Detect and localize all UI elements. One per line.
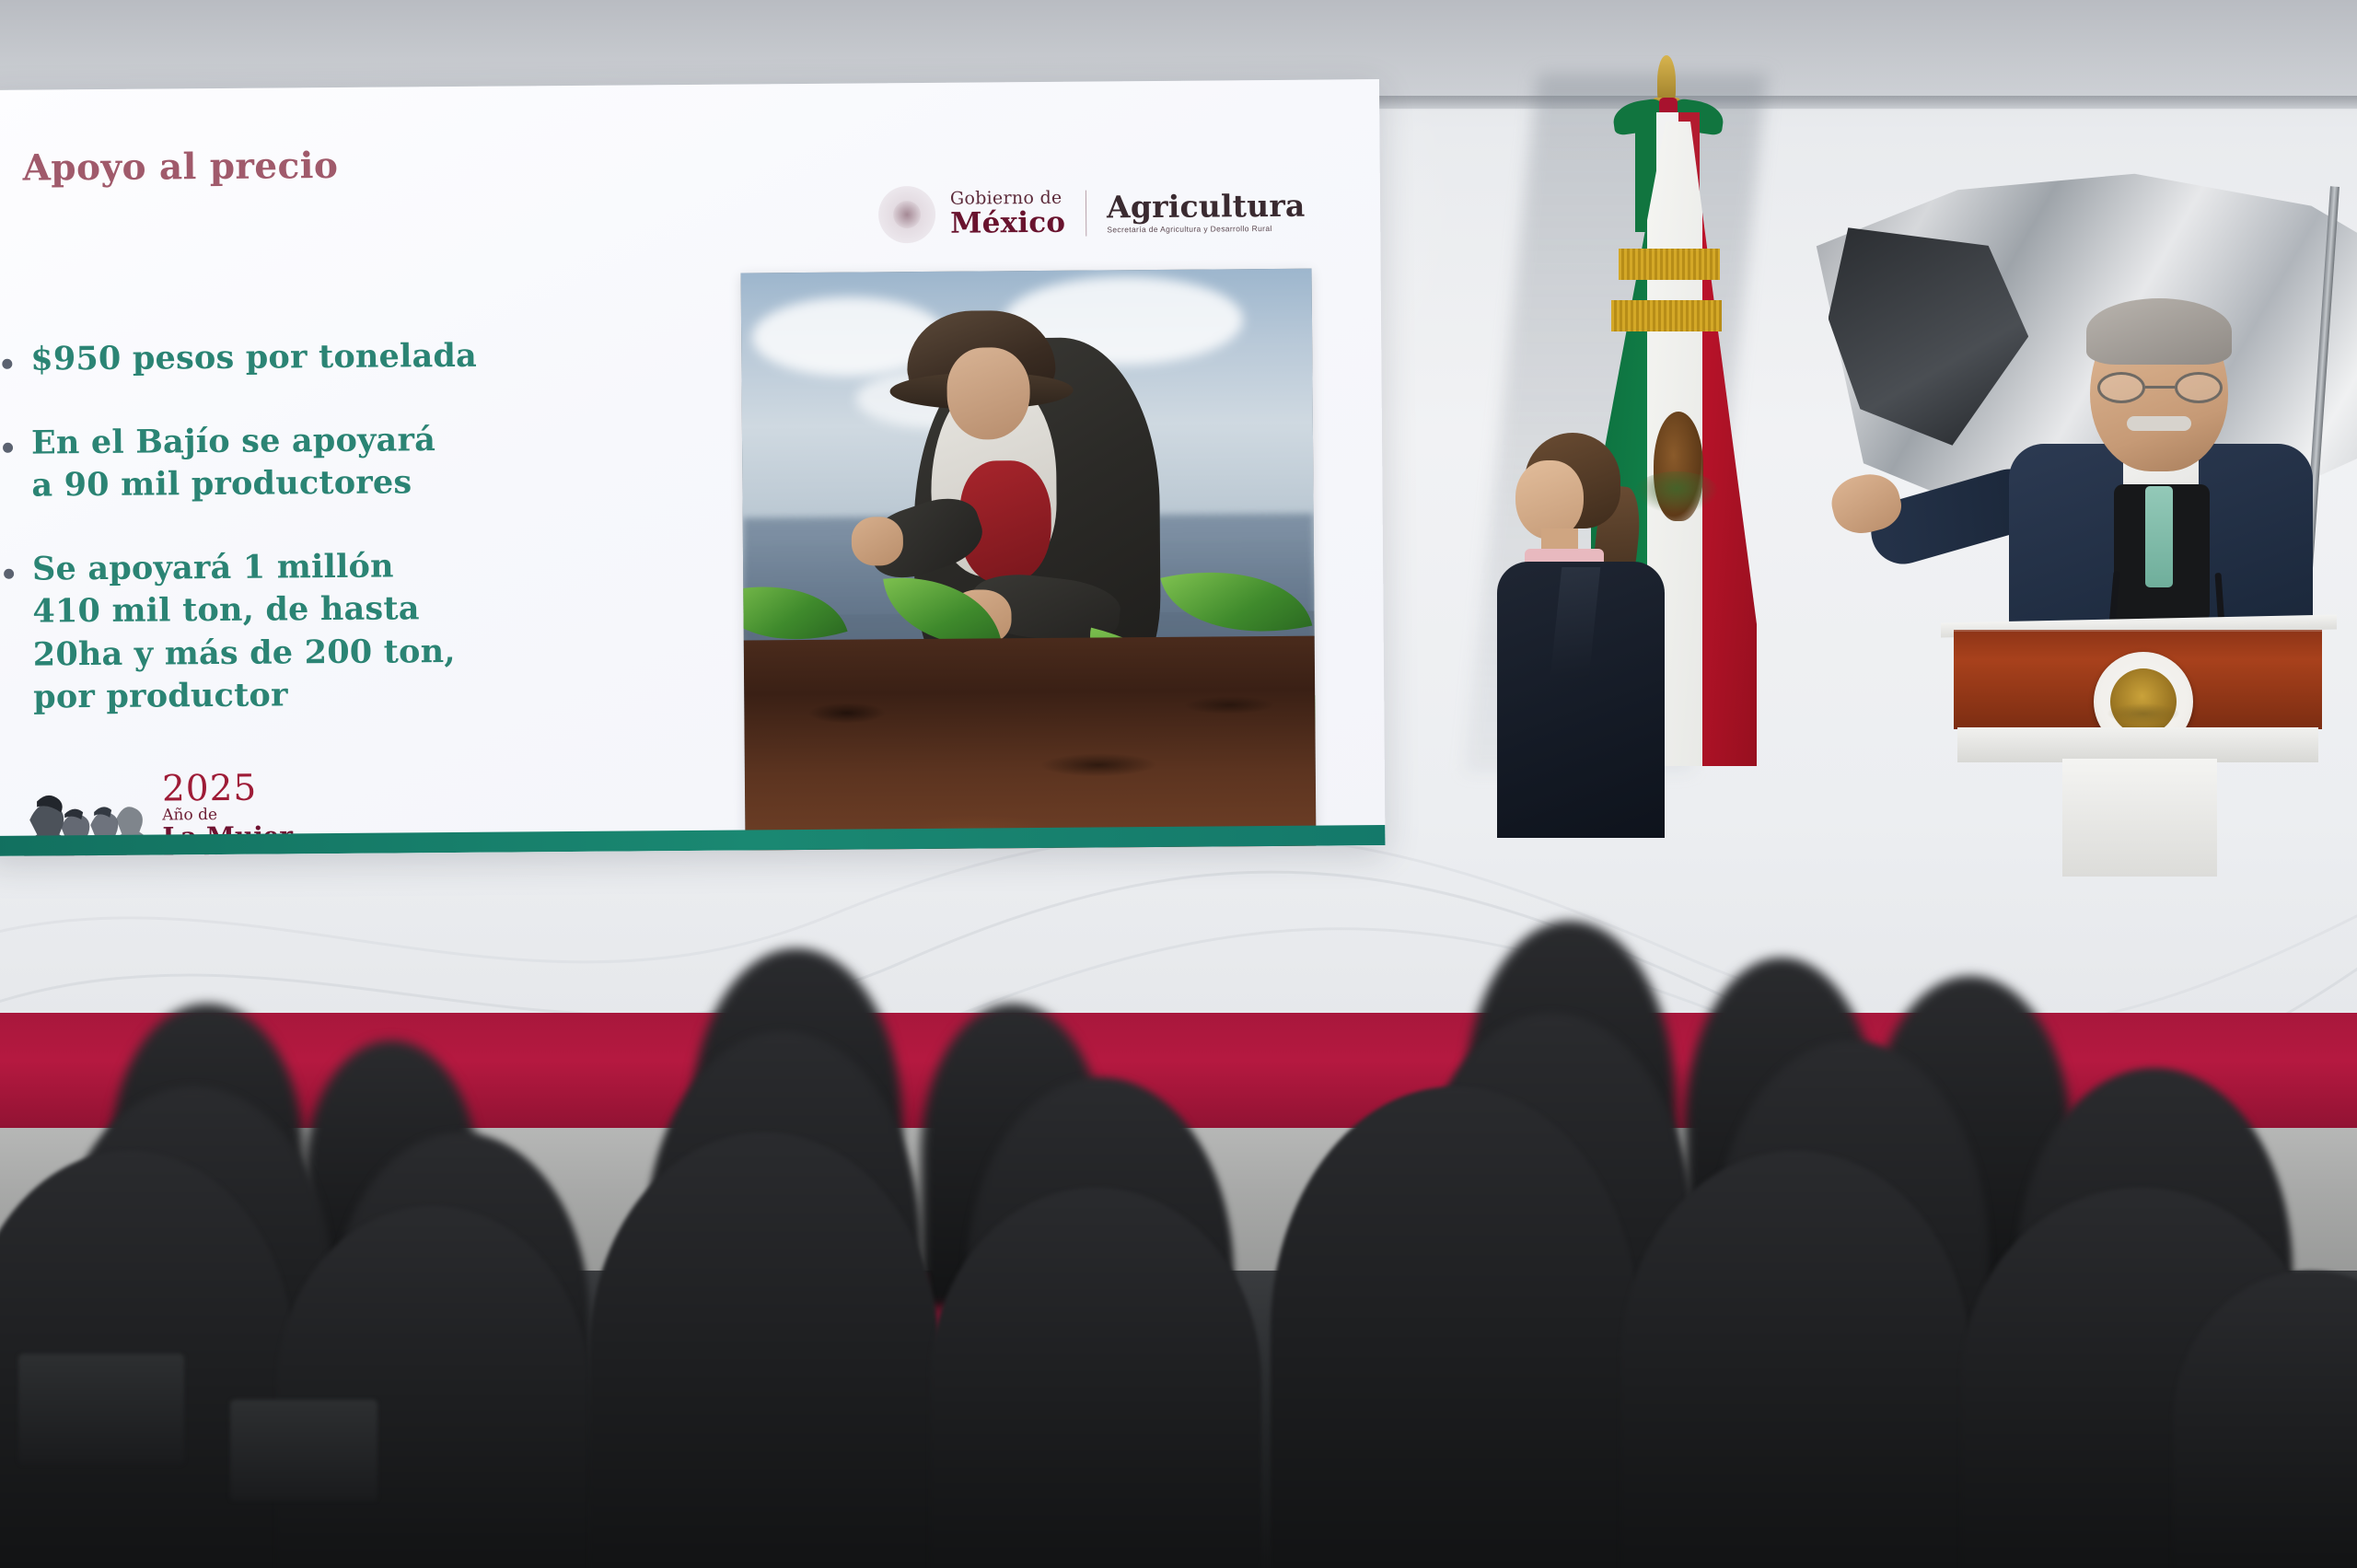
list-item [276, 1206, 589, 1568]
slide-photo-farmer [741, 269, 1317, 856]
flag-gold-fringe [1611, 300, 1722, 331]
list-item [1620, 1151, 1970, 1568]
podium [1941, 619, 2337, 877]
presentation-slide: Apoyo al precio Gobierno de México Agric… [0, 79, 1385, 856]
photo-farmer-hand [851, 517, 902, 566]
necktie [2145, 486, 2173, 587]
bullet-dot-icon [4, 568, 14, 578]
slide-title: Apoyo al precio [22, 145, 338, 190]
list-item [589, 1132, 939, 1568]
year-badge-year: 2025 [162, 771, 293, 806]
coat-of-arms-icon [878, 186, 935, 243]
list-item: Se apoyará 1 millón 410 mil ton, de hast… [4, 542, 704, 719]
hair [2086, 298, 2232, 365]
eyeglasses-icon [2097, 372, 2223, 403]
list-item: En el Bajío se apoyará a 90 mil producto… [3, 416, 703, 507]
photo-farmer-face [946, 347, 1030, 439]
podium-column [2062, 759, 2217, 877]
podium-base-shelf [1957, 727, 2318, 762]
gobierno-agricultura-logo: Gobierno de México Agricultura Secretarí… [878, 183, 1306, 244]
bullet-dot-icon [2, 359, 12, 369]
standing-official [1484, 433, 1678, 838]
bullet-text: $950 pesos por tonelada [30, 335, 477, 381]
logo-divider [1086, 191, 1086, 237]
press-conference-scene: Apoyo al precio Gobierno de México Agric… [0, 0, 2357, 1568]
bullet-dot-icon [3, 442, 13, 452]
bullet-text: En el Bajío se apoyará a 90 mil producto… [31, 419, 456, 508]
chair [18, 1353, 184, 1464]
chair [230, 1400, 377, 1501]
slide-bullet-list: $950 pesos por tonelada En el Bajío se a… [2, 333, 705, 761]
gobierno-line1: Gobierno de [950, 190, 1065, 208]
list-item [1271, 1086, 1639, 1568]
agency-subtitle: Secretaría de Agricultura y Desarrollo R… [1107, 225, 1305, 234]
flag-gold-fringe [1619, 249, 1720, 280]
mustache [2127, 416, 2191, 431]
list-item: $950 pesos por tonelada [2, 333, 702, 382]
bullet-text: Se apoyará 1 millón 410 mil ton, de hast… [32, 545, 466, 720]
gobierno-line2: México [950, 209, 1065, 238]
photo-soil-texture [744, 636, 1317, 856]
agency-name: Agricultura [1107, 191, 1306, 223]
list-item [930, 1188, 1261, 1568]
